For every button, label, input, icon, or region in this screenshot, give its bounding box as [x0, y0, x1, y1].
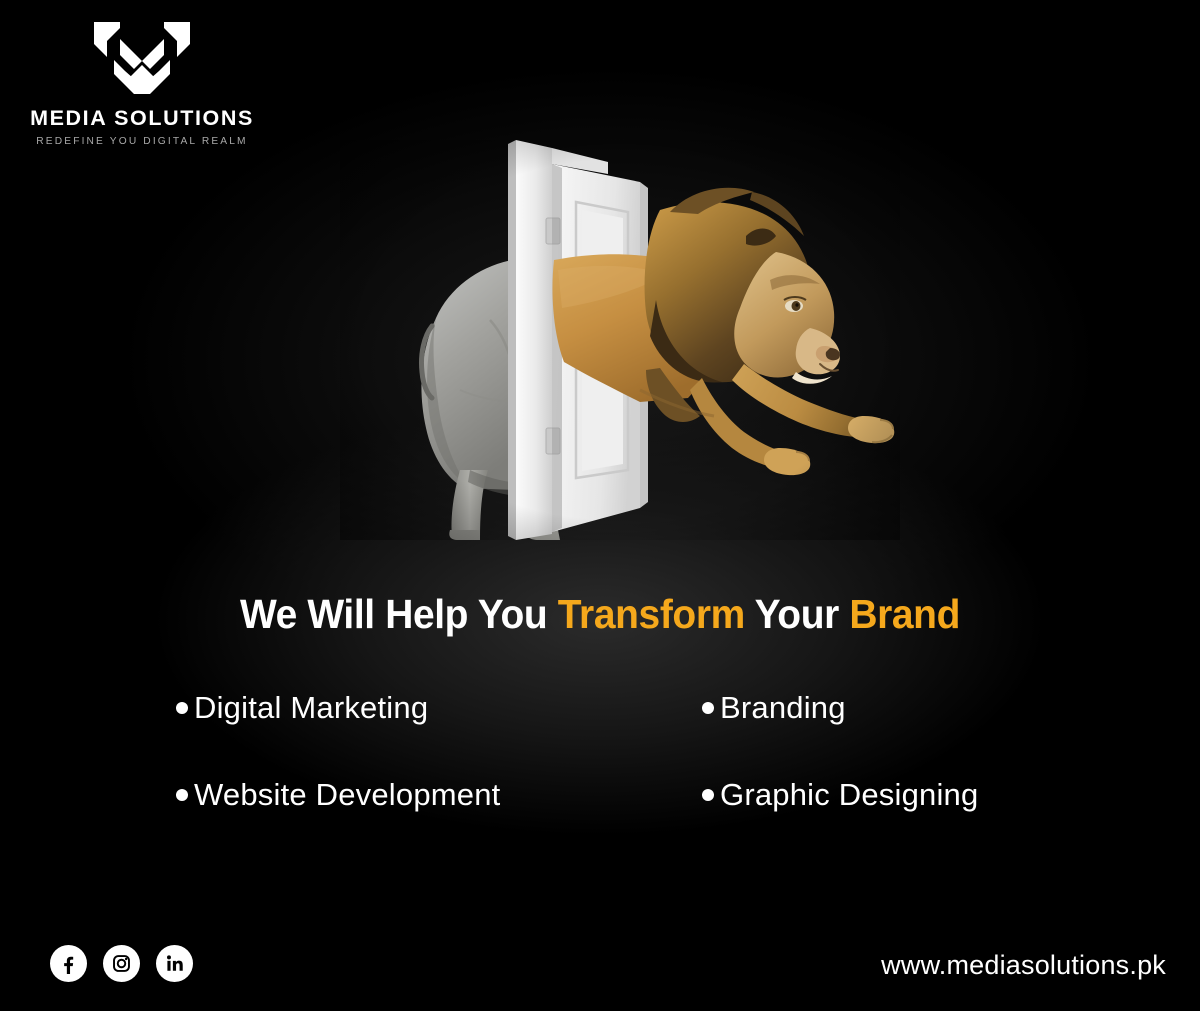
facebook-link[interactable] [50, 945, 87, 982]
service-label: Digital Marketing [194, 692, 428, 723]
service-item-website-development: Website Development [176, 779, 501, 810]
brand-logo: MEDIA SOLUTIONS REDEFINE YOU DIGITAL REA… [22, 14, 262, 147]
brand-tagline: REDEFINE YOU DIGITAL REALM [22, 137, 262, 147]
services-list: Digital Marketing Branding Website Devel… [0, 678, 1200, 828]
service-label: Graphic Designing [720, 779, 978, 810]
brand-name: MEDIA SOLUTIONS [22, 108, 262, 130]
website-url[interactable]: www.mediasolutions.pk [881, 952, 1166, 979]
service-label: Website Development [194, 779, 501, 810]
instagram-icon [110, 952, 133, 975]
poster-canvas: MEDIA SOLUTIONS REDEFINE YOU DIGITAL REA… [0, 0, 1200, 1011]
hero-illustration [340, 140, 900, 540]
bullet-icon [702, 789, 714, 801]
bullet-icon [176, 702, 188, 714]
headline-part-2: Your [745, 591, 850, 637]
facebook-icon [57, 952, 80, 975]
bullet-icon [176, 789, 188, 801]
page-title: We Will Help You Transform Your Brand [30, 592, 1170, 636]
service-item-branding: Branding [702, 692, 846, 723]
linkedin-icon [163, 952, 186, 975]
headline-highlight-brand: Brand [849, 591, 960, 637]
linkedin-link[interactable] [156, 945, 193, 982]
service-item-digital-marketing: Digital Marketing [176, 692, 428, 723]
headline-highlight-transform: Transform [558, 591, 745, 637]
bullet-icon [702, 702, 714, 714]
social-links [50, 945, 193, 982]
instagram-link[interactable] [103, 945, 140, 982]
headline-part-1: We Will Help You [240, 591, 558, 637]
service-item-graphic-designing: Graphic Designing [702, 779, 978, 810]
service-label: Branding [720, 692, 846, 723]
m-monogram-icon [90, 14, 194, 100]
